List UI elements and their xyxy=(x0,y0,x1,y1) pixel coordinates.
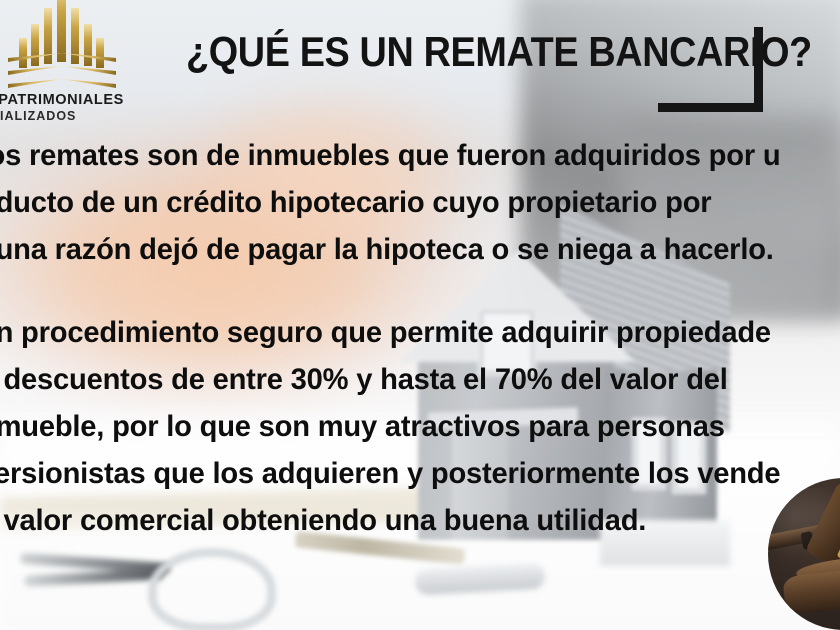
emblem-spire-r3 xyxy=(96,38,104,68)
paragraph-1-line-3: guna razón dejó de pagar la hipoteca o s… xyxy=(0,226,840,273)
brand-name-line-2: SPECIALIZADOS xyxy=(0,109,148,124)
emblem-spire-l3 xyxy=(19,38,27,68)
key-ring xyxy=(148,548,276,630)
body-copy: tos remates son de inmuebles que fueron … xyxy=(0,132,840,544)
paragraph-2-line-3: nmueble, por lo que son muy atractivos p… xyxy=(0,403,840,450)
paragraph-1-line-1: tos remates son de inmuebles que fueron … xyxy=(0,132,840,179)
paragraph-2: un procedimiento seguro que permite adqu… xyxy=(0,309,840,544)
corner-bracket-vertical-icon xyxy=(754,27,763,112)
emblem-spire-center xyxy=(57,0,66,62)
building-chevron-emblem-icon xyxy=(8,6,116,92)
paragraph-2-line-4: versionistas que los adquieren y posteri… xyxy=(0,450,840,497)
page-title: ¿QUÉ ES UN REMATE BANCARIO? xyxy=(186,28,708,76)
brand-logo: RES PATRIMONIALES SPECIALIZADOS xyxy=(0,6,148,126)
slide-canvas: RES PATRIMONIALES SPECIALIZADOS ¿QUÉ ES … xyxy=(0,0,840,630)
paragraph-1: tos remates son de inmuebles que fueron … xyxy=(0,132,840,273)
paragraph-2-line-5: u valor comercial obteniendo una buena u… xyxy=(0,497,840,544)
emblem-spire-l2 xyxy=(31,24,39,66)
brand-name-line-1: RES PATRIMONIALES xyxy=(0,92,148,109)
brand-logo-text: RES PATRIMONIALES SPECIALIZADOS xyxy=(0,92,148,124)
paragraph-1-line-2: nducto de un crédito hipotecario cuyo pr… xyxy=(0,179,840,226)
paragraph-2-line-2: n descuentos de entre 30% y hasta el 70%… xyxy=(0,356,840,403)
corner-bracket-horizontal-icon xyxy=(658,103,763,112)
emblem-chevron-3 xyxy=(8,79,116,88)
paragraph-2-line-1: un procedimiento seguro que permite adqu… xyxy=(0,309,840,356)
gavel-highlight xyxy=(768,488,840,558)
scissors-blade-lower xyxy=(24,568,164,586)
emblem-spire-r2 xyxy=(84,24,92,66)
